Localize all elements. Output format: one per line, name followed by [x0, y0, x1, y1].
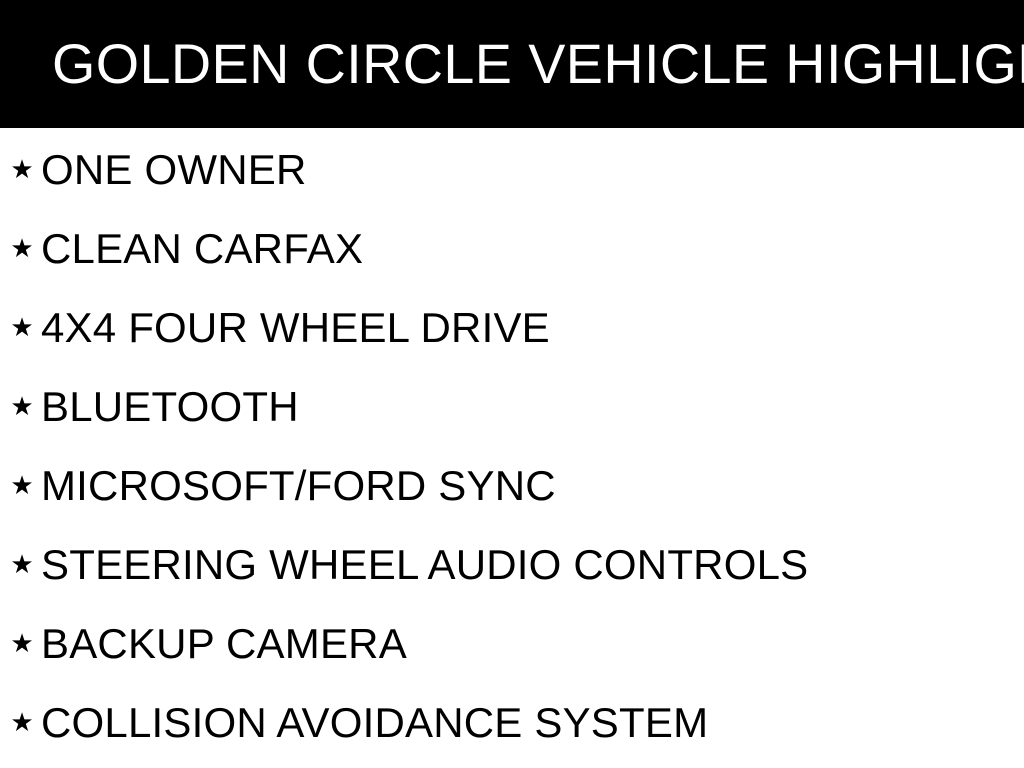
star-icon: ★	[3, 394, 41, 420]
star-icon: ★	[3, 710, 41, 736]
highlight-label: BACKUP CAMERA	[41, 623, 407, 665]
list-item: ★ COLLISION AVOIDANCE SYSTEM	[0, 684, 1024, 763]
highlight-label: COLLISION AVOIDANCE SYSTEM	[41, 702, 708, 744]
highlight-label: BLUETOOTH	[41, 386, 299, 428]
highlight-label: 4X4 FOUR WHEEL DRIVE	[41, 307, 550, 349]
star-icon: ★	[3, 473, 41, 499]
header-band: GOLDEN CIRCLE VEHICLE HIGHLIGHTS	[0, 0, 1024, 128]
vehicle-highlights-slide: GOLDEN CIRCLE VEHICLE HIGHLIGHTS ★ ONE O…	[0, 0, 1024, 768]
list-item: ★ CLEAN CARFAX	[0, 210, 1024, 289]
star-icon: ★	[3, 315, 41, 341]
list-item: ★ BLUETOOTH	[0, 368, 1024, 447]
highlight-label: CLEAN CARFAX	[41, 228, 363, 270]
vehicle-highlights-list: ★ ONE OWNER ★ CLEAN CARFAX ★ 4X4 FOUR WH…	[0, 128, 1024, 768]
list-item: ★ STEERING WHEEL AUDIO CONTROLS	[0, 526, 1024, 605]
star-icon: ★	[3, 552, 41, 578]
star-icon: ★	[3, 157, 41, 183]
star-icon: ★	[3, 236, 41, 262]
page-title: GOLDEN CIRCLE VEHICLE HIGHLIGHTS	[52, 0, 1024, 128]
highlight-label: STEERING WHEEL AUDIO CONTROLS	[41, 544, 808, 586]
list-item: ★ BACKUP CAMERA	[0, 605, 1024, 684]
list-item: ★ ONE OWNER	[0, 131, 1024, 210]
list-item: ★ 4X4 FOUR WHEEL DRIVE	[0, 289, 1024, 368]
highlight-label: ONE OWNER	[41, 149, 306, 191]
list-item: ★ MICROSOFT/FORD SYNC	[0, 447, 1024, 526]
star-icon: ★	[3, 631, 41, 657]
highlight-label: MICROSOFT/FORD SYNC	[41, 465, 556, 507]
